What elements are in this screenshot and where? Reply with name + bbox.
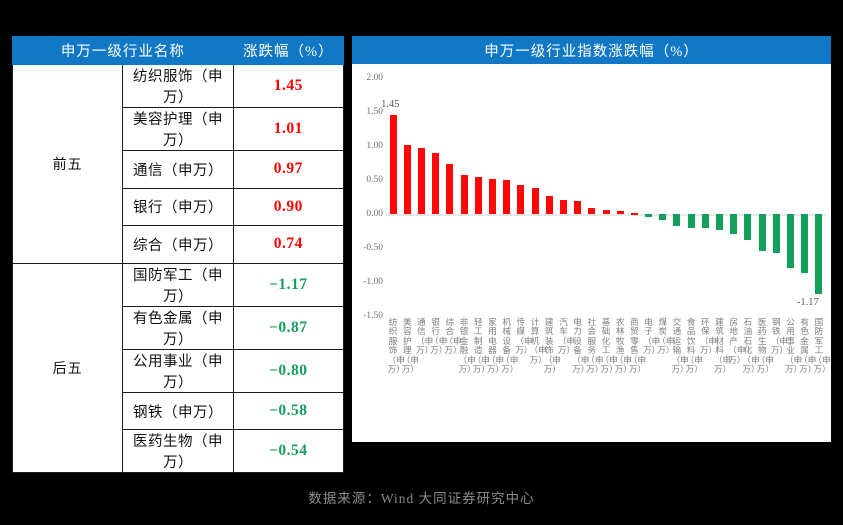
change-pct-cell: −1.17 <box>233 263 343 306</box>
x-tick-label: 房地产（申万） <box>728 318 739 365</box>
top-bottom-industries-table: 申万一级行业名称涨跌幅（%）前五纺织服饰（申万）1.45美容护理（申万）1.01… <box>12 36 344 442</box>
x-tick-label: 公用事业（申万） <box>785 318 796 374</box>
bar <box>489 179 496 214</box>
x-tick-label: 家用电器（申万） <box>487 318 498 374</box>
y-tick-label: 1.00 <box>366 141 383 151</box>
rank-table: 申万一级行业名称涨跌幅（%）前五纺织服饰（申万）1.45美容护理（申万）1.01… <box>12 36 344 473</box>
bar <box>673 214 680 226</box>
y-tick-label: 0.50 <box>366 175 383 185</box>
change-pct-cell: −0.58 <box>233 392 343 430</box>
bar-series: 1.45-1.17 <box>386 78 826 316</box>
y-tick-label: 0.00 <box>366 209 383 219</box>
table-header-row: 申万一级行业名称涨跌幅（%） <box>13 37 344 65</box>
bar <box>801 214 808 273</box>
bar <box>446 164 453 214</box>
industry-name-cell: 银行（申万） <box>123 188 233 226</box>
x-tick-label: 食品饮料（申万） <box>686 318 697 374</box>
industry-name-cell: 钢铁（申万） <box>123 392 233 430</box>
x-tick-label: 煤炭（申万） <box>657 318 668 356</box>
industry-name-cell: 通信（申万） <box>123 151 233 189</box>
bar <box>787 214 794 268</box>
industry-name-cell: 纺织服饰（申万） <box>123 65 233 108</box>
x-tick-label: 电子（申万） <box>643 318 654 356</box>
bar <box>659 214 666 220</box>
x-tick-label: 银行（申万） <box>430 318 441 356</box>
x-tick-label: 农林牧渔（申万） <box>615 318 626 374</box>
bar <box>645 214 652 217</box>
industry-name-cell: 有色金属（申万） <box>123 306 233 349</box>
x-tick-label: 商贸零售（申万） <box>629 318 640 374</box>
report-figure: 申万一级行业名称涨跌幅（%）前五纺织服饰（申万）1.45美容护理（申万）1.01… <box>0 0 843 525</box>
x-tick-label: 建筑材料（申万） <box>714 318 725 374</box>
table-row: 前五纺织服饰（申万）1.45 <box>13 65 344 108</box>
x-tick-label: 综合（申万） <box>444 318 455 356</box>
bar <box>773 214 780 253</box>
group-label-bottom5: 后五 <box>13 263 123 473</box>
plot-area: 1.45-1.17 <box>386 78 826 316</box>
change-pct-cell: 0.74 <box>233 226 343 264</box>
header-change-pct: 涨跌幅（%） <box>233 37 343 65</box>
x-tick-label: 传媒（申万） <box>515 318 526 356</box>
bar <box>432 153 439 214</box>
chart-title: 申万一级行业指数涨跌幅（%） <box>352 36 831 64</box>
change-pct-cell: −0.80 <box>233 349 343 392</box>
bar <box>759 214 766 251</box>
x-tick-label: 社会服务（申万） <box>586 318 597 374</box>
bar-value-label: 1.45 <box>381 99 399 110</box>
y-tick-label: -0.50 <box>363 243 383 253</box>
bar <box>390 115 397 214</box>
x-tick-label: 轻工制造（申万） <box>473 318 484 374</box>
bar <box>603 210 610 214</box>
bar <box>517 185 524 214</box>
industry-name-cell: 美容护理（申万） <box>123 108 233 151</box>
bar <box>688 214 695 228</box>
bar <box>617 211 624 214</box>
x-tick-label: 汽车（申万） <box>558 318 569 356</box>
x-tick-label: 国防军工（申万） <box>813 318 824 374</box>
x-tick-label: 电力设备（申万） <box>572 318 583 374</box>
x-tick-label: 计算机（申万） <box>530 318 541 365</box>
bar <box>418 148 425 214</box>
bar <box>631 213 638 215</box>
group-label-top5: 前五 <box>13 65 123 264</box>
x-tick-label: 有色金属（申万） <box>799 318 810 374</box>
industry-name-cell: 综合（申万） <box>123 226 233 264</box>
x-tick-label: 通信（申万） <box>416 318 427 356</box>
bar <box>716 214 723 230</box>
change-pct-cell: 0.97 <box>233 151 343 189</box>
industry-name-cell: 国防军工（申万） <box>123 263 233 306</box>
x-tick-label: 环保（申万） <box>700 318 711 356</box>
bar <box>475 177 482 214</box>
y-tick-label: -1.00 <box>363 277 383 287</box>
bar <box>532 188 539 214</box>
x-tick-label: 基础化工（申万） <box>601 318 612 374</box>
bar <box>744 214 751 240</box>
x-tick-label: 建筑装饰（申万） <box>544 318 555 374</box>
bar <box>730 214 737 234</box>
bar <box>560 200 567 214</box>
x-tick-label: 交通运输（申万） <box>671 318 682 374</box>
chart-body: 2.001.501.000.500.00-0.50-1.00-1.50 1.45… <box>352 64 831 442</box>
industry-index-chart-panel: 申万一级行业指数涨跌幅（%） 2.001.501.000.500.00-0.50… <box>352 36 831 442</box>
x-tick-label: 非银金融（申万） <box>459 318 470 374</box>
bar <box>461 175 468 214</box>
change-pct-cell: −0.54 <box>233 430 343 473</box>
x-tick-label: 医药生物（申万） <box>757 318 768 374</box>
change-pct-cell: 1.45 <box>233 65 343 108</box>
x-tick-label: 机械设备（申万） <box>501 318 512 374</box>
change-pct-cell: 1.01 <box>233 108 343 151</box>
bar <box>815 214 822 294</box>
change-pct-cell: −0.87 <box>233 306 343 349</box>
bar <box>503 180 510 214</box>
change-pct-cell: 0.90 <box>233 188 343 226</box>
bar <box>588 208 595 214</box>
x-tick-label: 石油石化（申万） <box>742 318 753 374</box>
x-tick-label: 钢铁（申万） <box>771 318 782 356</box>
bar <box>702 214 709 228</box>
x-tick-label: 纺织服饰（申万） <box>388 318 399 374</box>
industry-name-cell: 公用事业（申万） <box>123 349 233 392</box>
table-row: 后五国防军工（申万）−1.17 <box>13 263 344 306</box>
bar <box>574 201 581 214</box>
y-tick-label: 2.00 <box>366 73 383 83</box>
x-axis-labels: 纺织服饰（申万）美容护理（申万）通信（申万）银行（申万）综合（申万）非银金融（申… <box>386 318 826 438</box>
bar <box>404 145 411 214</box>
bar-value-label: -1.17 <box>797 297 819 308</box>
source-note: 数据来源：Wind 大同证券研究中心 <box>0 487 843 507</box>
header-industry-name: 申万一级行业名称 <box>13 37 234 65</box>
bar <box>546 196 553 214</box>
x-tick-label: 美容护理（申万） <box>402 318 413 374</box>
industry-name-cell: 医药生物（申万） <box>123 430 233 473</box>
y-tick-label: -1.50 <box>363 311 383 321</box>
